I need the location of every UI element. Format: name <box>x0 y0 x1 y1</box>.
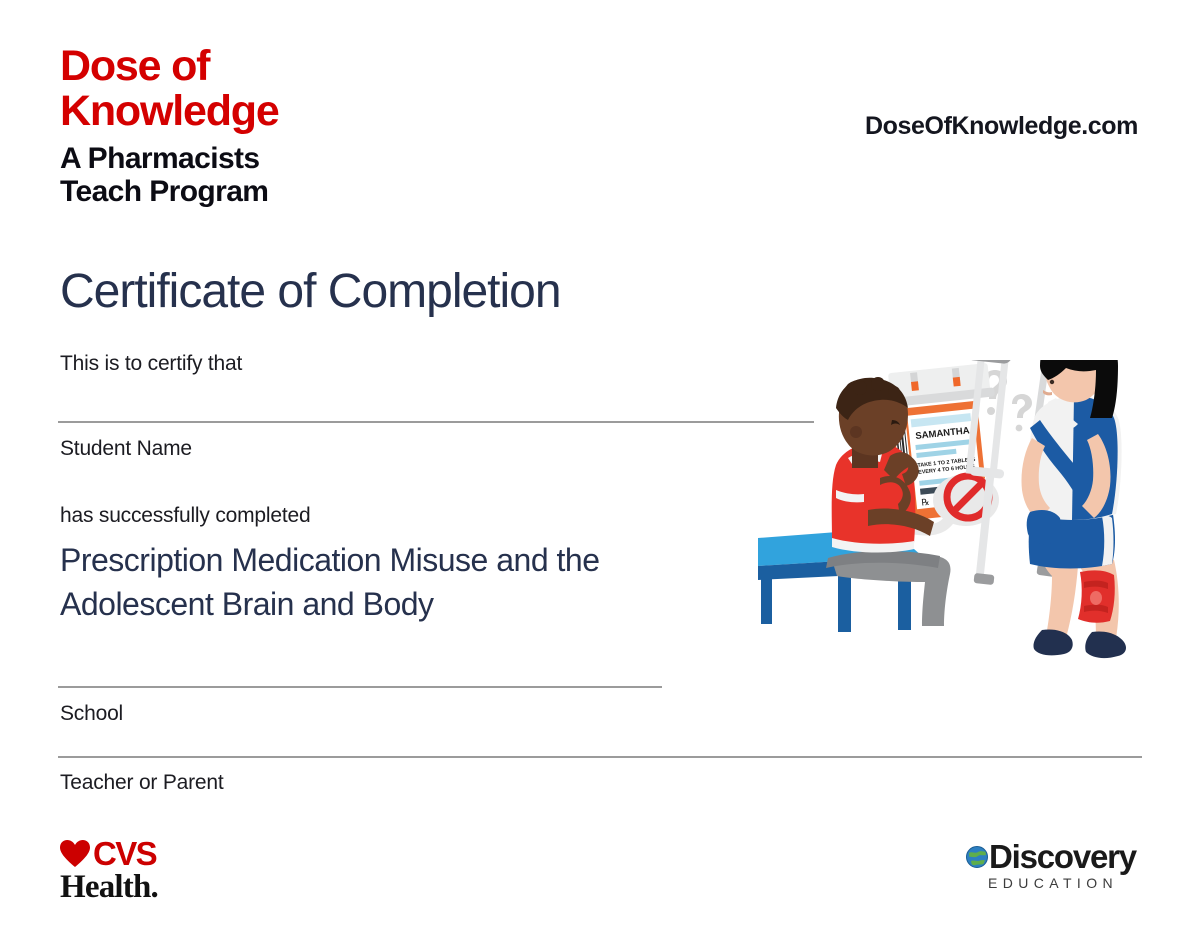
brand-line-2: Knowledge <box>60 89 480 134</box>
brand-subtitle-line-1: A Pharmacists <box>60 142 480 175</box>
school-label: School <box>60 702 123 726</box>
student-name-rule <box>58 421 814 423</box>
school-rule <box>58 686 662 688</box>
completed-text: has successfully completed <box>60 504 310 528</box>
girl-with-crutches-figure <box>965 360 1126 658</box>
dose-of-knowledge-logo: Dose of Knowledge A Pharmacists Teach Pr… <box>60 44 480 208</box>
globe-icon <box>966 846 988 868</box>
certify-text: This is to certify that <box>60 352 242 376</box>
course-title: Prescription Medication Misuse and the A… <box>60 538 700 626</box>
brand-subtitle-line-2: Teach Program <box>60 175 480 208</box>
heart-icon <box>60 840 90 868</box>
student-name-label: Student Name <box>60 437 192 461</box>
question-marks-icon <box>983 370 1032 431</box>
brand-subtitle: A Pharmacists Teach Program <box>60 142 480 208</box>
cvs-wordmark: CVS <box>93 839 156 869</box>
certificate-page: Dose of Knowledge A Pharmacists Teach Pr… <box>0 0 1200 927</box>
brand-line-1: Dose of <box>60 44 480 89</box>
discovery-education-subtext: EDUCATION <box>988 875 1156 891</box>
discovery-education-logo: Discovery EDUCATION <box>966 840 1156 891</box>
teacher-label: Teacher or Parent <box>60 771 224 795</box>
cvs-health-wordmark: Health. <box>60 871 260 904</box>
discovery-wordmark: Discovery <box>989 840 1136 873</box>
rx-symbol: ℞ <box>921 497 930 508</box>
page-title: Certificate of Completion <box>60 266 561 318</box>
website-url[interactable]: DoseOfKnowledge.com <box>865 112 1138 141</box>
cvs-logo-top: CVS <box>60 838 260 870</box>
certificate-illustration: SAMANTHA TAKE 1 TO 2 TABLETS EVERY 4 TO … <box>740 360 1180 760</box>
discovery-logo-top: Discovery <box>966 840 1156 873</box>
illustration-svg: SAMANTHA TAKE 1 TO 2 TABLETS EVERY 4 TO … <box>740 360 1180 760</box>
cvs-health-logo: CVS Health. <box>60 838 260 904</box>
